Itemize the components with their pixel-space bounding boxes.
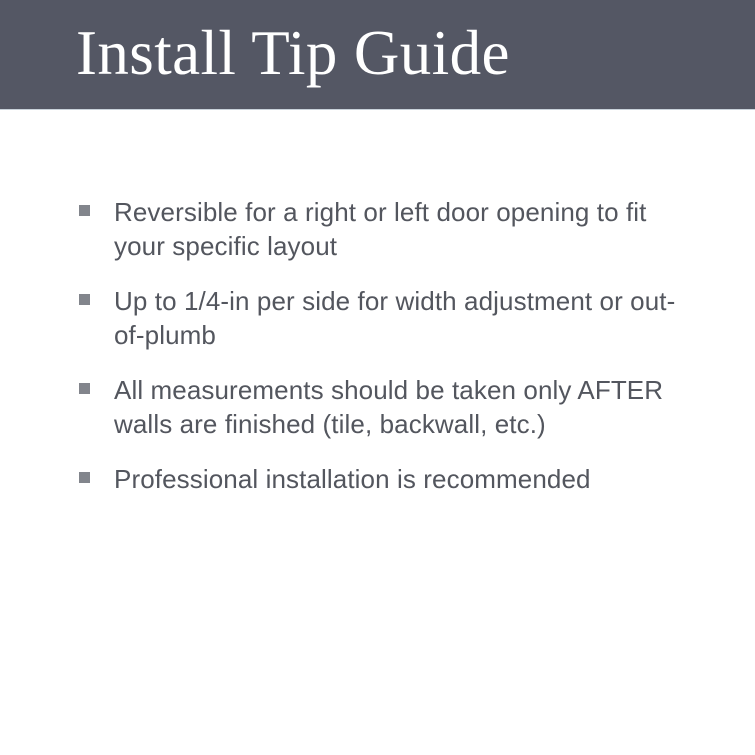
content-area: Reversible for a right or left door open… (0, 111, 755, 755)
list-item: Up to 1/4-in per side for width adjustme… (79, 284, 680, 352)
tip-text: Professional installation is recommended (114, 462, 680, 496)
tip-text: Up to 1/4-in per side for width adjustme… (114, 284, 680, 352)
tip-text: All measurements should be taken only AF… (114, 373, 680, 441)
list-item: Reversible for a right or left door open… (79, 195, 680, 263)
square-bullet-icon (79, 383, 90, 394)
square-bullet-icon (79, 294, 90, 305)
square-bullet-icon (79, 472, 90, 483)
page-title: Install Tip Guide (76, 13, 510, 93)
install-tip-guide-page: Install Tip Guide Reversible for a right… (0, 0, 755, 755)
list-item: Professional installation is recommended (79, 462, 680, 496)
tip-text: Reversible for a right or left door open… (114, 195, 680, 263)
install-tips-list: Reversible for a right or left door open… (79, 195, 680, 496)
square-bullet-icon (79, 205, 90, 216)
list-item: All measurements should be taken only AF… (79, 373, 680, 441)
header-banner: Install Tip Guide (0, 0, 755, 110)
